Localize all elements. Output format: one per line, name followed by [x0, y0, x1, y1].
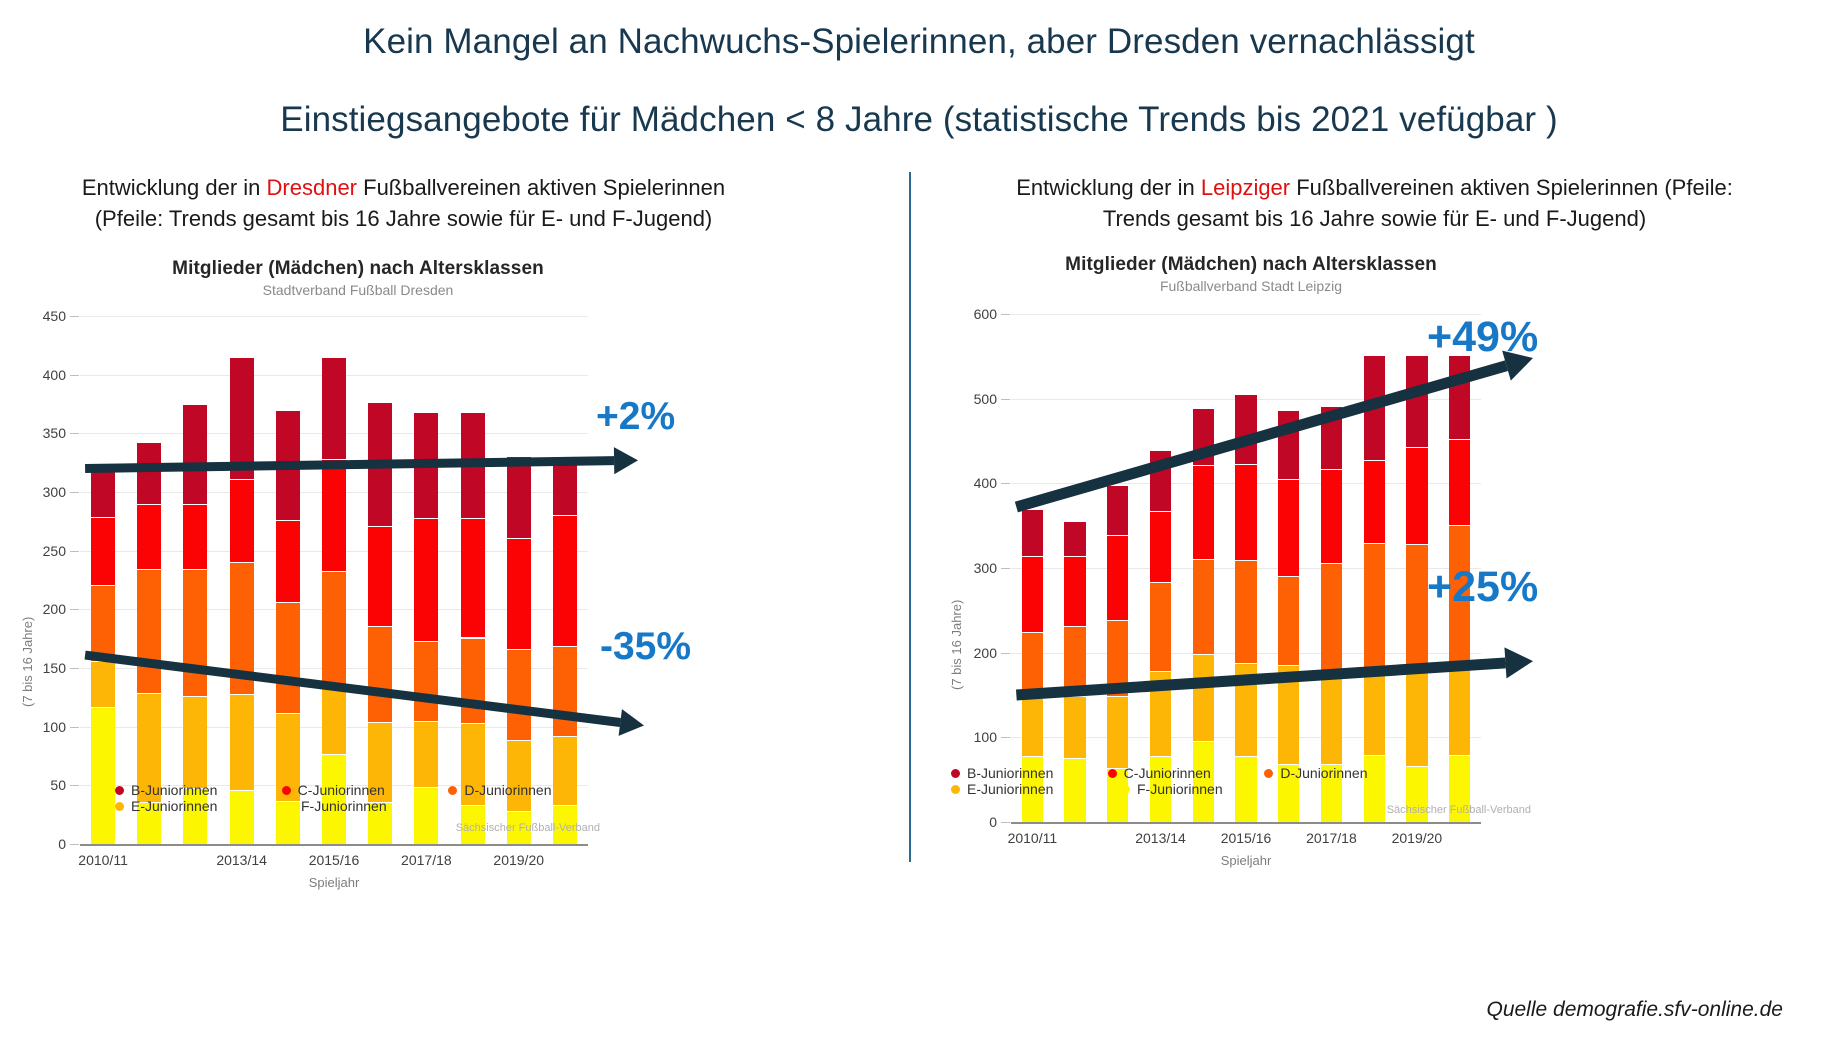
panel-divider — [909, 172, 911, 862]
legend-row: B-JuniorinnenC-JuniorinnenD-Juniorinnen — [115, 782, 615, 798]
legend-item[interactable]: B-Juniorinnen — [115, 782, 282, 798]
bar-segment — [1022, 632, 1043, 698]
page-title: Kein Mangel an Nachwuchs-Spielerinnen, a… — [0, 22, 1838, 140]
slide-root: Kein Mangel an Nachwuchs-Spielerinnen, a… — [0, 0, 1838, 1044]
bar-segment — [91, 585, 115, 661]
headline-line-2: Einstiegsangebote für Mädchen < 8 Jahre … — [0, 100, 1838, 140]
bar-segment — [322, 684, 346, 753]
bar-segment — [91, 517, 115, 585]
legend-item[interactable]: E-Juniorinnen — [115, 798, 285, 814]
panel-leipzig-subtitle: Entwicklung der in Leipziger Fußballvere… — [911, 172, 1838, 234]
legend-row: B-JuniorinnenC-JuniorinnenD-Juniorinnen — [951, 765, 1421, 781]
bar-stack — [1321, 406, 1342, 822]
bar-segment — [1278, 410, 1299, 479]
bar-segment — [276, 602, 300, 712]
legend-item[interactable]: C-Juniorinnen — [282, 782, 449, 798]
y-tick-mark — [1001, 483, 1010, 484]
legend-label: E-Juniorinnen — [131, 798, 217, 814]
bar-segment — [1278, 479, 1299, 576]
y-axis-tick-label: 50 — [14, 777, 66, 793]
y-tick-mark — [70, 727, 79, 728]
legend-leipzig: B-JuniorinnenC-JuniorinnenD-JuniorinnenE… — [951, 765, 1421, 797]
legend-item[interactable]: E-Juniorinnen — [951, 781, 1121, 797]
bar-segment — [1449, 663, 1470, 755]
bar-segment — [1406, 664, 1427, 766]
legend-label: D-Juniorinnen — [464, 782, 551, 798]
bar-segment — [183, 404, 207, 504]
y-axis-tick-label: 450 — [14, 308, 66, 324]
bar-segment — [1150, 450, 1171, 511]
y-axis-tick-label: 100 — [14, 719, 66, 735]
legend-swatch-icon — [1121, 785, 1130, 794]
bar-stack — [183, 404, 207, 844]
legend-label: C-Juniorinnen — [1124, 765, 1211, 781]
bar-segment — [414, 412, 438, 518]
legend-swatch-icon — [951, 769, 960, 778]
trend-label-ef-dresden: -35% — [600, 625, 691, 669]
legend-swatch-icon — [1264, 769, 1273, 778]
panel-dresden-subtitle: Entwicklung der in Dresdner Fußballverei… — [0, 172, 909, 234]
gridline — [1011, 314, 1481, 315]
bar-stack — [1406, 355, 1427, 822]
bar-segment — [1107, 535, 1128, 620]
legend-row: E-JuniorinnenF-Juniorinnen — [115, 798, 615, 814]
bar-segment — [1449, 439, 1470, 525]
legend-item[interactable]: C-Juniorinnen — [1108, 765, 1265, 781]
chart-dresden-title: Mitglieder (Mädchen) nach Altersklassen — [8, 258, 708, 280]
bar-segment — [1064, 626, 1085, 696]
bar-segment — [1235, 394, 1256, 463]
subtitle-suffix: Fußballvereinen aktiven Spielerinnen — [357, 175, 725, 200]
bar-segment — [137, 442, 161, 504]
trend-label-total-leipzig: +49% — [1427, 313, 1538, 362]
bar-segment — [1107, 485, 1128, 535]
legend-row: E-JuniorinnenF-Juniorinnen — [951, 781, 1421, 797]
x-axis-title: Spieljahr — [80, 875, 588, 890]
bar-segment — [1193, 408, 1214, 465]
source-note-leipzig: Sächsischer Fußball-Verband — [1231, 804, 1531, 816]
bar-segment — [1107, 620, 1128, 696]
bar-segment — [1235, 663, 1256, 756]
bar-segment — [1064, 556, 1085, 625]
bar-stack — [322, 357, 346, 844]
bar-segment — [1022, 556, 1043, 632]
x-axis-line — [80, 844, 588, 846]
bar-segment — [461, 412, 485, 518]
chart-dresden-subtitle: Stadtverband Fußball Dresden — [8, 282, 708, 298]
bar-segment — [1064, 696, 1085, 758]
subtitle-prefix: Entwicklung der in — [82, 175, 267, 200]
legend-label: B-Juniorinnen — [967, 765, 1053, 781]
y-tick-mark — [1001, 568, 1010, 569]
bar-segment — [1022, 698, 1043, 756]
legend-swatch-icon — [1108, 769, 1117, 778]
bar-segment — [1364, 460, 1385, 543]
bar-segment — [230, 357, 254, 479]
bar-segment — [1449, 355, 1470, 440]
y-axis-tick-label: 500 — [945, 391, 997, 407]
legend-item[interactable]: B-Juniorinnen — [951, 765, 1108, 781]
y-tick-mark — [1001, 314, 1010, 315]
chart-leipzig-title: Mitglieder (Mädchen) nach Altersklassen — [931, 254, 1571, 276]
bar-stack — [1278, 410, 1299, 822]
bar-segment — [137, 504, 161, 570]
y-tick-mark — [1001, 822, 1010, 823]
legend-dresden: B-JuniorinnenC-JuniorinnenD-JuniorinnenE… — [115, 782, 615, 814]
bar-segment — [230, 562, 254, 693]
bar-segment — [1278, 576, 1299, 664]
bar-segment — [461, 638, 485, 724]
y-axis-tick-label: 400 — [945, 475, 997, 491]
bar-segment — [461, 518, 485, 638]
y-tick-mark — [70, 551, 79, 552]
bar-segment — [91, 707, 115, 844]
y-axis-tick-label: 200 — [14, 601, 66, 617]
panel-dresden: Entwicklung der in Dresdner Fußballverei… — [0, 172, 909, 234]
bar-segment — [183, 504, 207, 570]
bar-segment — [414, 641, 438, 721]
y-tick-mark — [70, 844, 79, 845]
bar-segment — [1406, 544, 1427, 663]
subtitle-line2: (Pfeile: Trends gesamt bis 16 Jahre sowi… — [95, 206, 713, 231]
bar-segment — [1364, 543, 1385, 668]
bar-segment — [507, 538, 531, 649]
x-axis-tick-label: 2019/20 — [467, 852, 571, 868]
trend-label-total-dresden: +2% — [596, 395, 675, 439]
legend-swatch-icon — [282, 786, 291, 795]
bar-segment — [1321, 469, 1342, 563]
bar-segment — [1364, 668, 1385, 755]
bar-segment — [276, 410, 300, 520]
bar-segment — [1107, 696, 1128, 768]
legend-swatch-icon — [448, 786, 457, 795]
bar-segment — [322, 357, 346, 459]
bar-segment — [230, 479, 254, 562]
bar-stack — [461, 412, 485, 844]
bar-segment — [91, 469, 115, 517]
bar-segment — [368, 626, 392, 722]
bar-segment — [137, 569, 161, 692]
y-axis-tick-label: 300 — [14, 484, 66, 500]
y-tick-mark — [70, 785, 79, 786]
x-axis-tick-label: 2015/16 — [282, 852, 386, 868]
bar-segment — [276, 520, 300, 602]
y-axis-tick-label: 600 — [945, 306, 997, 322]
legend-item[interactable]: D-Juniorinnen — [448, 782, 615, 798]
subtitle-suffix: Fußballvereinen aktiven Spielerinnen (Pf… — [1290, 175, 1733, 200]
bar-segment — [507, 456, 531, 538]
legend-label: B-Juniorinnen — [131, 782, 217, 798]
legend-label: F-Juniorinnen — [1137, 781, 1223, 797]
bar-segment — [230, 694, 254, 790]
bar-segment — [1235, 464, 1256, 560]
bar-segment — [414, 518, 438, 641]
bar-segment — [1321, 671, 1342, 764]
legend-item[interactable]: F-Juniorinnen — [285, 798, 455, 814]
x-axis-tick-label: 2010/11 — [51, 852, 155, 868]
bar-segment — [1193, 654, 1214, 741]
bar-segment — [1278, 665, 1299, 765]
bar-segment — [183, 696, 207, 788]
bar-segment — [1150, 582, 1171, 671]
panel-leipzig: Entwicklung der in Leipziger Fußballvere… — [911, 172, 1838, 234]
bar-segment — [553, 646, 577, 736]
bar-stack — [368, 402, 392, 844]
bar-segment — [368, 402, 392, 526]
bar-segment — [1064, 521, 1085, 556]
legend-swatch-icon — [285, 802, 294, 811]
legend-label: C-Juniorinnen — [298, 782, 385, 798]
y-axis-title: (7 bis 16 Jahre) — [949, 600, 964, 690]
source-note-dresden: Sächsischer Fußball-Verband — [300, 822, 600, 834]
y-axis-title: (7 bis 16 Jahre) — [20, 616, 35, 706]
headline-line-1: Kein Mangel an Nachwuchs-Spielerinnen, a… — [363, 22, 1475, 61]
y-tick-mark — [70, 609, 79, 610]
bar-segment — [414, 721, 438, 787]
bar-stack — [276, 410, 300, 844]
bar-segment — [1321, 406, 1342, 469]
y-axis-tick-label: 100 — [945, 729, 997, 745]
bar-stack — [91, 469, 115, 844]
bar-segment — [1022, 509, 1043, 556]
subtitle-prefix: Entwicklung der in — [1016, 175, 1201, 200]
subtitle-line2: Trends gesamt bis 16 Jahre sowie für E- … — [1103, 206, 1646, 231]
legend-label: D-Juniorinnen — [1280, 765, 1367, 781]
bar-segment — [91, 661, 115, 707]
subtitle-city-dresden: Dresdner — [267, 175, 357, 200]
y-tick-mark — [70, 375, 79, 376]
legend-item[interactable]: F-Juniorinnen — [1121, 781, 1291, 797]
chart-dresden: Mitglieder (Mädchen) nach Altersklassen … — [8, 258, 708, 958]
x-axis-tick-label: 2010/11 — [980, 830, 1084, 846]
subtitle-city-leipzig: Leipziger — [1201, 175, 1290, 200]
y-tick-mark — [70, 316, 79, 317]
chart-leipzig-subtitle: Fußballverband Stadt Leipzig — [931, 278, 1571, 294]
y-axis-tick-label: 350 — [14, 425, 66, 441]
x-axis-line — [1011, 822, 1481, 824]
y-axis-tick-label: 300 — [945, 560, 997, 576]
y-axis-tick-label: 0 — [945, 814, 997, 830]
legend-swatch-icon — [951, 785, 960, 794]
x-axis-tick-label: 2013/14 — [190, 852, 294, 868]
bar-segment — [1150, 671, 1171, 756]
bar-segment — [553, 515, 577, 645]
bar-segment — [368, 526, 392, 626]
legend-swatch-icon — [115, 786, 124, 795]
trend-label-ef-leipzig: +25% — [1427, 563, 1538, 612]
y-tick-mark — [70, 492, 79, 493]
x-axis-tick-label: 2017/18 — [374, 852, 478, 868]
bar-stack — [414, 412, 438, 844]
y-axis-tick-label: 0 — [14, 836, 66, 852]
y-axis-tick-label: 400 — [14, 367, 66, 383]
bar-segment — [1406, 447, 1427, 544]
x-axis-tick-label: 2019/20 — [1365, 830, 1469, 846]
x-axis-title: Spieljahr — [1011, 853, 1481, 868]
bar-stack — [1364, 355, 1385, 822]
y-tick-mark — [1001, 399, 1010, 400]
y-tick-mark — [70, 433, 79, 434]
bar-segment — [1150, 511, 1171, 582]
bar-segment — [1406, 355, 1427, 447]
gridline — [80, 316, 588, 317]
bar-segment — [322, 459, 346, 570]
bar-segment — [1364, 355, 1385, 460]
bar-segment — [183, 569, 207, 696]
y-axis-tick-label: 250 — [14, 543, 66, 559]
bar-segment — [1193, 559, 1214, 654]
bar-stack — [1235, 394, 1256, 822]
bar-segment — [1235, 560, 1256, 663]
bar-segment — [1193, 465, 1214, 559]
y-tick-mark — [70, 668, 79, 669]
bar-stack — [230, 357, 254, 844]
y-tick-mark — [1001, 737, 1010, 738]
legend-swatch-icon — [115, 802, 124, 811]
bar-segment — [322, 571, 346, 685]
bar-segment — [553, 457, 577, 516]
legend-item[interactable]: D-Juniorinnen — [1264, 765, 1421, 781]
bar-stack — [1193, 408, 1214, 822]
y-tick-mark — [1001, 653, 1010, 654]
legend-label: F-Juniorinnen — [301, 798, 387, 814]
bar-segment — [507, 649, 531, 739]
legend-label: E-Juniorinnen — [967, 781, 1053, 797]
source-credit: Quelle demografie.sfv-online.de — [1486, 998, 1783, 1022]
bar-segment — [1321, 563, 1342, 671]
